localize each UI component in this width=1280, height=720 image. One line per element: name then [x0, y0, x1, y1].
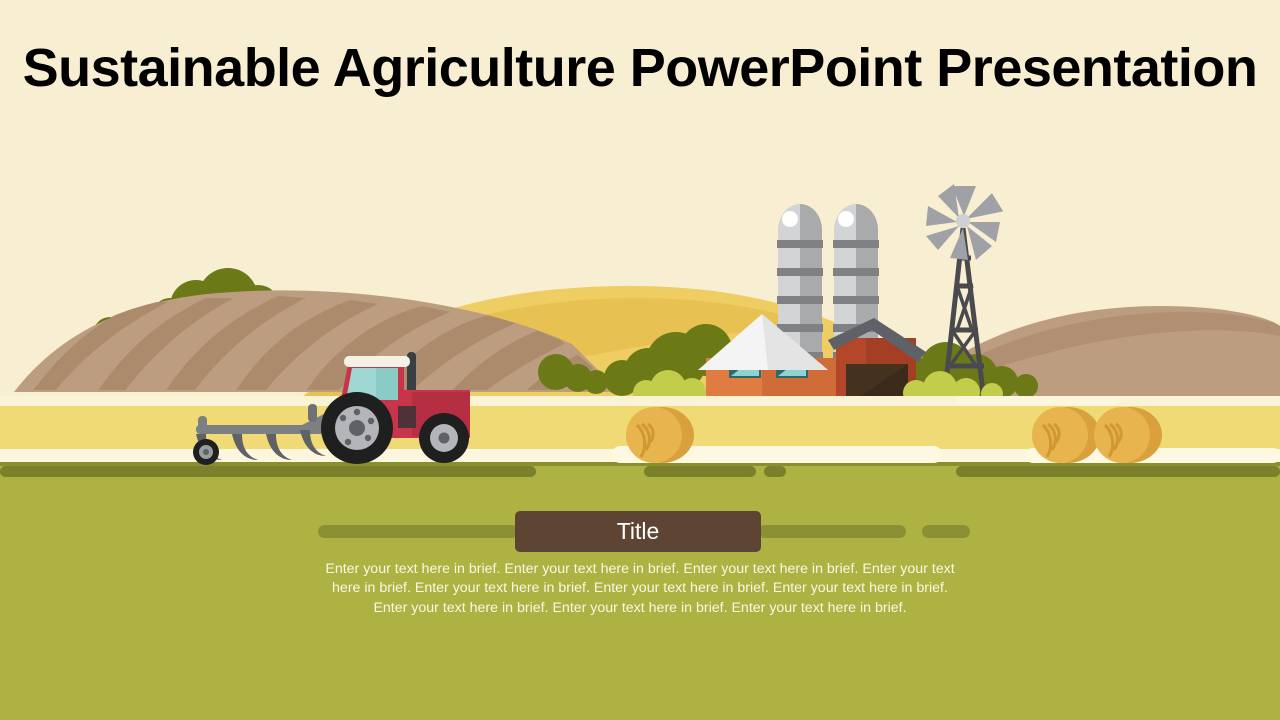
tractor-roof	[344, 356, 410, 367]
hay-bale-center	[626, 407, 694, 463]
title-plate-label: Title	[617, 520, 660, 543]
title-plate[interactable]: Title	[515, 511, 761, 552]
hay-bale-right-b	[1094, 407, 1162, 463]
presentation-slide: Sustainable Agriculture PowerPoint Prese…	[0, 0, 1280, 720]
body-paragraph: Enter your text here in brief. Enter you…	[320, 560, 960, 618]
page-title: Sustainable Agriculture PowerPoint Prese…	[0, 36, 1280, 100]
hay-bale-right-a	[1032, 407, 1100, 463]
